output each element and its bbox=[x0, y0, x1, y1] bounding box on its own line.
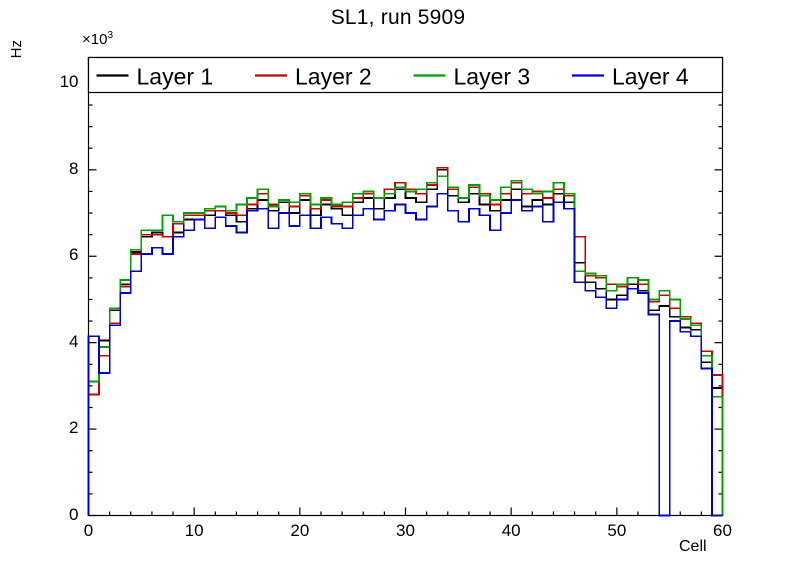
legend-label-layer-1: Layer 1 bbox=[137, 64, 214, 90]
x-tick-label: 20 bbox=[280, 521, 320, 541]
x-tick-label: 10 bbox=[174, 521, 214, 541]
x-tick-label: 40 bbox=[491, 521, 531, 541]
histogram-plot: Layer 1Layer 2Layer 3Layer 4 bbox=[0, 0, 796, 572]
legend-label-layer-2: Layer 2 bbox=[295, 64, 372, 90]
y-tick-label: 2 bbox=[51, 418, 79, 438]
y-tick-label: 6 bbox=[51, 245, 79, 265]
x-tick-label: 30 bbox=[386, 521, 426, 541]
y-tick-label: 8 bbox=[51, 159, 79, 179]
x-tick-label: 60 bbox=[703, 521, 743, 541]
y-tick-label: 4 bbox=[51, 332, 79, 352]
legend-label-layer-4: Layer 4 bbox=[612, 64, 689, 90]
series-line-layer-4 bbox=[89, 194, 723, 516]
legend-label-layer-3: Layer 3 bbox=[454, 64, 531, 90]
x-tick-label: 0 bbox=[69, 521, 109, 541]
y-tick-label: 10 bbox=[51, 72, 79, 92]
x-tick-label: 50 bbox=[597, 521, 637, 541]
